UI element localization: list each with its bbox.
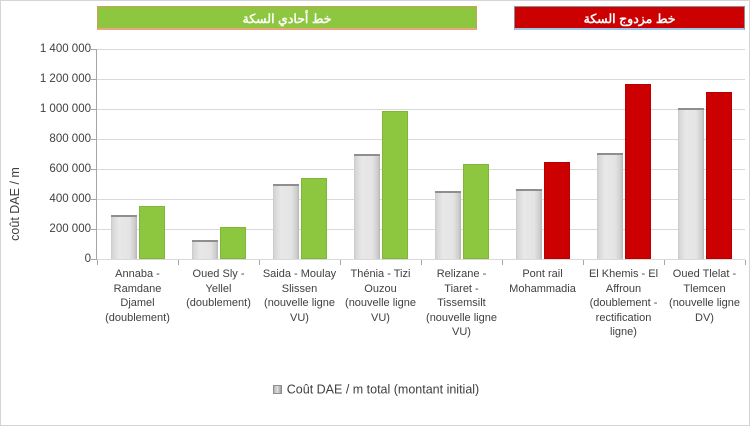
bar-initial-amount[interactable] [435, 191, 461, 259]
bar-group [421, 49, 502, 259]
x-axis-tick-mark [421, 260, 422, 265]
y-axis-tick-mark [91, 49, 96, 50]
bar-single-track[interactable] [220, 227, 246, 259]
bar-initial-amount[interactable] [192, 240, 218, 260]
x-label-line: Annaba - [97, 267, 178, 282]
x-label-line: Tlemcen [664, 282, 745, 297]
x-label-line: (nouvelle ligne [664, 296, 745, 311]
x-axis-category-label: Pont railMohammadia [502, 267, 583, 296]
x-label-line: Thénia - Tizi [340, 267, 421, 282]
bar-initial-amount[interactable] [678, 108, 704, 260]
x-axis-tick-mark [664, 260, 665, 265]
chart-page: خط أحادي السكة خط مزدوج السكة 1 400 0001… [0, 0, 750, 426]
x-axis-tick-mark [97, 260, 98, 265]
x-label-line: El Khemis - El [583, 267, 664, 282]
bar-initial-amount[interactable] [354, 154, 380, 259]
x-label-line: (nouvelle ligne [421, 311, 502, 326]
x-axis-tick-mark [178, 260, 179, 265]
bar-single-track[interactable] [139, 206, 165, 259]
x-axis-tick-mark [583, 260, 584, 265]
x-axis-tick-mark [340, 260, 341, 265]
y-axis-tick-mark [91, 259, 96, 260]
bar-group [583, 49, 664, 259]
plot-area [97, 49, 745, 259]
y-axis-tick-mark [91, 199, 96, 200]
x-label-line: (doublement) [178, 296, 259, 311]
x-label-line: rectification [583, 311, 664, 326]
x-axis-category-label: Annaba -RamdaneDjamel(doublement) [97, 267, 178, 325]
bar-group [178, 49, 259, 259]
x-label-line: Tissemsilt [421, 296, 502, 311]
x-label-line: ligne) [583, 325, 664, 340]
x-label-line: Mohammadia [502, 282, 583, 297]
bar-initial-amount[interactable] [273, 184, 299, 259]
bar-double-track[interactable] [706, 92, 732, 259]
banner-single-track: خط أحادي السكة [97, 6, 477, 30]
x-axis-category-label: Oued Tlelat -Tlemcen(nouvelle ligneDV) [664, 267, 745, 325]
x-label-line: Ouzou [340, 282, 421, 297]
y-axis-title: coût DAE / m [8, 144, 22, 264]
x-label-line: Djamel [97, 296, 178, 311]
bar-initial-amount[interactable] [516, 189, 542, 260]
x-axis-tick-mark [745, 260, 746, 265]
x-axis-category-label: Thénia - TiziOuzou(nouvelle ligneVU) [340, 267, 421, 325]
banner-double-track: خط مزدوج السكة [514, 6, 745, 30]
bar-double-track[interactable] [544, 162, 570, 260]
x-label-line: Saida - Moulay [259, 267, 340, 282]
y-axis-tick-mark [91, 79, 96, 80]
bar-initial-amount[interactable] [111, 215, 137, 259]
x-label-line: (doublement - [583, 296, 664, 311]
bar-double-track[interactable] [625, 84, 651, 260]
x-axis-category-label: Oued Sly -Yellel(doublement) [178, 267, 259, 311]
bar-single-track[interactable] [301, 178, 327, 259]
x-axis-category-labels: Annaba -RamdaneDjamel(doublement)Oued Sl… [97, 267, 745, 377]
bar-single-track[interactable] [382, 111, 408, 259]
x-label-line: Affroun [583, 282, 664, 297]
y-axis-tick-mark [91, 139, 96, 140]
bar-group [259, 49, 340, 259]
x-label-line: Relizane - [421, 267, 502, 282]
bar-group [340, 49, 421, 259]
y-axis-tick-label: 1 400 000 [5, 43, 91, 55]
x-label-line: VU) [421, 325, 502, 340]
x-axis-tick-mark [259, 260, 260, 265]
x-label-line: VU) [340, 311, 421, 326]
x-label-line: Slissen [259, 282, 340, 297]
legend-label: Coût DAE / m total (montant initial) [287, 383, 479, 397]
x-label-line: Pont rail [502, 267, 583, 282]
x-label-line: Oued Tlelat - [664, 267, 745, 282]
y-axis-tick-mark [91, 109, 96, 110]
x-label-line: (doublement) [97, 311, 178, 326]
x-label-line: Ramdane [97, 282, 178, 297]
x-label-line: (nouvelle ligne [340, 296, 421, 311]
x-label-line: Tiaret - [421, 282, 502, 297]
x-axis-category-label: El Khemis - ElAffroun(doublement -rectif… [583, 267, 664, 340]
x-axis-category-label: Saida - MoulaySlissen(nouvelle ligneVU) [259, 267, 340, 325]
x-label-line: Oued Sly - [178, 267, 259, 282]
x-label-line: DV) [664, 311, 745, 326]
y-axis-tick-mark [91, 229, 96, 230]
y-axis-tick-label: 1 000 000 [5, 103, 91, 115]
x-label-line: Yellel [178, 282, 259, 297]
bar-single-track[interactable] [463, 164, 489, 259]
square-marker-icon [273, 385, 282, 394]
bar-group [97, 49, 178, 259]
x-axis-category-label: Relizane -Tiaret -Tissemsilt(nouvelle li… [421, 267, 502, 340]
x-label-line: (nouvelle ligne [259, 296, 340, 311]
bar-group [502, 49, 583, 259]
bar-initial-amount[interactable] [597, 153, 623, 260]
x-label-line: VU) [259, 311, 340, 326]
bar-group [664, 49, 745, 259]
y-axis-tick-mark [91, 169, 96, 170]
x-axis-tick-mark [502, 260, 503, 265]
y-axis-tick-label: 1 200 000 [5, 73, 91, 85]
chart-legend: Coût DAE / m total (montant initial) [1, 382, 750, 397]
